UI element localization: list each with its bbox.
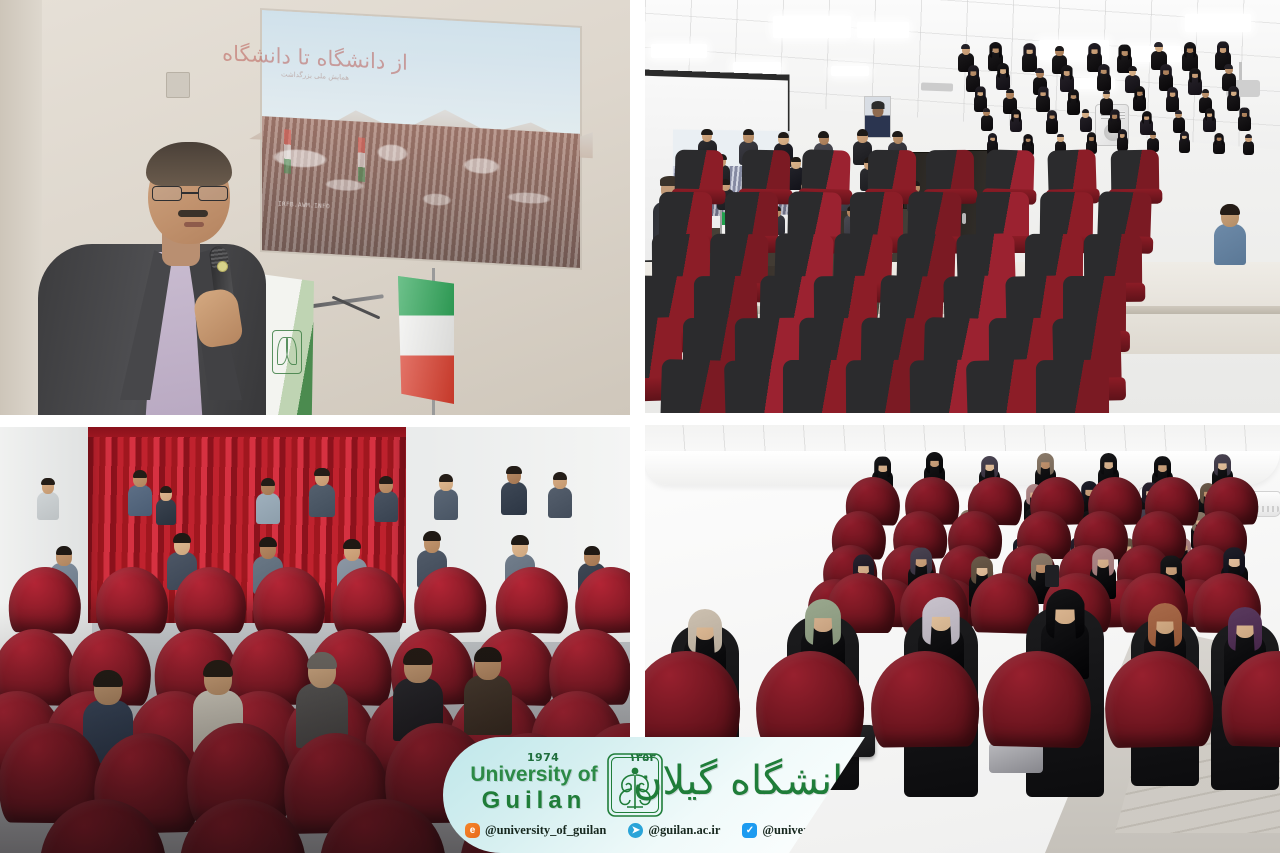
ceiling-light	[831, 66, 869, 76]
ceiling-light	[1185, 14, 1251, 32]
attendee-hair	[857, 129, 868, 135]
attendee-hair	[506, 466, 522, 475]
attendee-hair	[1128, 66, 1136, 71]
seat-back	[845, 360, 919, 413]
ceiling-light	[773, 16, 851, 38]
attendee-body	[309, 484, 336, 518]
attendee-hair	[701, 129, 712, 135]
attendee-hair	[1082, 109, 1089, 113]
seat-back	[966, 359, 1041, 413]
speaker-moustache	[178, 210, 208, 217]
attendee-body	[156, 499, 177, 525]
attendee-body	[1214, 224, 1246, 265]
wall-corner	[0, 0, 42, 415]
attendee-hair	[160, 486, 172, 493]
attendee-hair	[778, 132, 789, 138]
attendee-hair	[743, 129, 754, 135]
attendee-hair	[1245, 134, 1252, 138]
attendee-hair	[343, 539, 361, 549]
auditorium-seat	[783, 360, 856, 413]
laptop-or-folder	[989, 743, 1043, 773]
seat-back	[1036, 360, 1109, 413]
attendee-hair	[314, 468, 330, 477]
telegram-handle: @guilan.ac.ir	[648, 823, 720, 838]
attendee-hair	[173, 533, 191, 543]
slide-crowd	[262, 116, 580, 268]
auditorium-seat	[1036, 360, 1109, 413]
photo-collage: از دانشگاه تا دانشگاه همایش ملی بزرگداشت…	[0, 0, 1280, 853]
curtain-rail	[88, 427, 406, 437]
attendee-hair	[791, 157, 802, 163]
seat-back	[1111, 150, 1160, 195]
seat-back	[783, 360, 856, 413]
auditorium-seat	[868, 150, 916, 194]
iranian-flag	[398, 276, 454, 404]
attendee-hair	[259, 537, 277, 547]
framed-portrait	[864, 96, 891, 138]
attendee-hair	[818, 131, 829, 137]
university-name-line2: Guilan	[469, 787, 599, 815]
attendee-hair	[1224, 64, 1232, 69]
university-emblem-on-flag-icon	[272, 330, 302, 374]
auditorium-seat	[675, 150, 724, 195]
attendee-hair	[892, 131, 903, 137]
instagram-icon: e	[465, 823, 480, 838]
attendee-hair	[1220, 204, 1239, 215]
speaker-at-podium-photo: از دانشگاه تا دانشگاه همایش ملی بزرگداشت…	[0, 0, 630, 415]
instagram-handle: @university_of_guilan	[485, 823, 606, 838]
attendee-hair	[1006, 89, 1014, 93]
slide-flag-left	[284, 129, 291, 174]
auditorium-seat	[1111, 150, 1160, 195]
eyeglasses-icon	[152, 186, 228, 201]
auditorium-seat	[966, 359, 1041, 413]
attendee-hair	[983, 108, 990, 112]
wall-plate	[166, 72, 190, 98]
auditorium-seat	[925, 150, 973, 194]
twitter-icon: ✓	[742, 823, 757, 838]
attendee-body	[37, 492, 60, 521]
attendee-hair	[1035, 68, 1043, 73]
attendee-body	[548, 487, 573, 518]
attendee-hair	[1150, 131, 1157, 135]
auditorium-seat	[1047, 149, 1096, 194]
attendee-hair	[423, 531, 441, 541]
mobile-phone	[1045, 565, 1059, 587]
attendee-body	[501, 482, 528, 516]
auditorium-seat	[741, 150, 790, 195]
ceiling-duct	[921, 82, 953, 91]
university-name-line1: University of	[469, 763, 599, 787]
slide-flag-mid	[358, 137, 365, 182]
attendee-hair	[1055, 46, 1064, 51]
seat-back	[868, 150, 916, 194]
attendee-body	[1080, 116, 1092, 132]
attendee-body	[1243, 141, 1254, 155]
auditorium-seat	[845, 360, 919, 413]
attendee-hair	[511, 535, 529, 545]
attendee-hair	[961, 44, 970, 49]
speaker-mouth	[184, 222, 204, 227]
auditorium-seat	[985, 149, 1034, 194]
attendee-hair	[41, 478, 54, 485]
lecture-hall-wide-photo	[645, 0, 1280, 413]
ceiling-light	[857, 22, 909, 38]
social-instagram[interactable]: e @university_of_guilan	[465, 823, 606, 838]
lapel-pin	[218, 262, 227, 271]
attendee-body	[128, 485, 153, 516]
attendee-body	[1173, 117, 1185, 133]
auditorium-seat	[802, 149, 851, 194]
attendee-hair	[1103, 90, 1111, 94]
attendee-body	[981, 115, 993, 131]
attendee-body	[374, 491, 399, 522]
ceiling-light	[651, 44, 707, 58]
seat-back	[925, 150, 973, 194]
attendee-body	[256, 493, 281, 524]
social-telegram[interactable]: ➤ @guilan.ac.ir	[628, 823, 720, 838]
attendee-body	[434, 489, 459, 520]
seat-back	[741, 150, 790, 195]
telegram-icon: ➤	[628, 823, 643, 838]
